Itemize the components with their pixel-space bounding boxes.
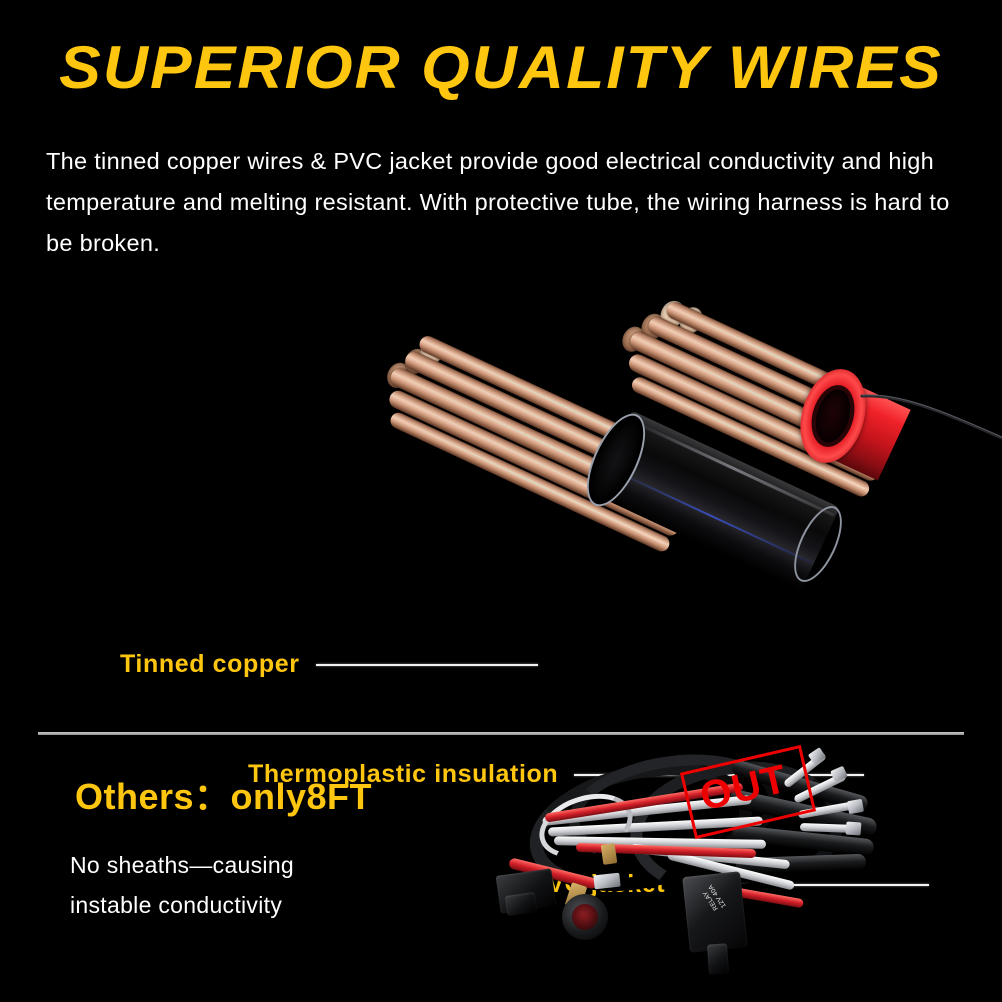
relay-mount-tab bbox=[707, 943, 729, 974]
callout-leader-line bbox=[316, 664, 538, 666]
thin-trailing-wire bbox=[860, 376, 1002, 466]
comparison-subtext-line-1: No sheaths—causing bbox=[70, 845, 400, 885]
wire-cutaway-illustration: Tinned copper Thermoplastic insulation P… bbox=[0, 258, 1002, 678]
ring-terminal bbox=[601, 843, 618, 865]
spade-terminal bbox=[846, 821, 862, 835]
comparison-heading: Others：only8FT bbox=[75, 768, 372, 820]
switch-face bbox=[572, 904, 598, 930]
spade-terminal bbox=[593, 873, 620, 890]
intro-paragraph: The tinned copper wires & PVC jacket pro… bbox=[46, 141, 976, 264]
callout-label: Tinned copper bbox=[120, 650, 300, 679]
rocker-switch[interactable] bbox=[562, 894, 608, 940]
harness-connector-block bbox=[505, 892, 537, 916]
relay-module: RELAY 12V 40A bbox=[682, 871, 748, 953]
callout-tinned-copper: Tinned copper bbox=[120, 650, 538, 679]
comparison-subtext-line-2: instable conductivity bbox=[70, 885, 400, 925]
page-title: SUPERIOR QUALITY WIRES bbox=[0, 36, 1002, 100]
product-infographic: SUPERIOR QUALITY WIRES The tinned copper… bbox=[0, 0, 1002, 1002]
section-divider bbox=[38, 732, 964, 735]
spade-terminal bbox=[847, 799, 864, 814]
comparison-subtext: No sheaths—causing instable conductivity bbox=[70, 845, 400, 925]
relay-label: RELAY 12V 40A bbox=[690, 867, 739, 929]
insulation-ring-bore bbox=[810, 386, 856, 447]
